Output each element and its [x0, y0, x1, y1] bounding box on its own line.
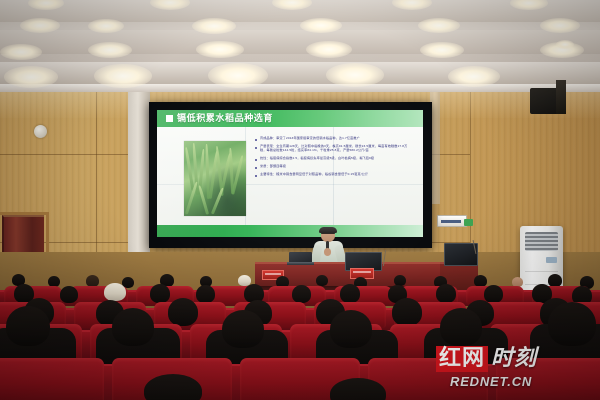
ceiling-light [448, 66, 500, 87]
list-item: 育成品种：审定了2013年国家级审定的低镉水稻品种，达1.7亿亩推广 [255, 136, 413, 141]
slide-title-marker-icon [166, 115, 173, 122]
audience-head [6, 306, 50, 346]
audience-head [168, 298, 198, 326]
audience-head [150, 284, 170, 303]
list-item: 产量表现：全生育期128天，比对照中稻晚熟3天，株高91.5厘米，穗长23.5厘… [255, 144, 413, 153]
presenter-hand [324, 248, 331, 256]
bullet-dot-icon [255, 167, 257, 169]
ceiling-band [0, 62, 600, 84]
watermark-brand-red: 红网 [436, 346, 488, 372]
audience-head-with-cap [104, 283, 126, 301]
ceiling-light [196, 41, 244, 58]
bullet-text: 主要特性：糙米中镉含量明显低于对照品种，稻谷镉含量低于0.15毫克/公斤 [260, 172, 368, 176]
list-item: 主要特性：糙米中镉含量明显低于对照品种，稻谷镉含量低于0.15毫克/公斤 [255, 172, 413, 177]
bullet-text: 育成品种：审定了2013年国家级审定的低镉水稻品种，达1.7亿亩推广 [260, 136, 360, 140]
audience-head [316, 275, 328, 286]
ceiling-light [306, 41, 352, 58]
watermark: 红网 时刻 REDNET.CN [436, 346, 588, 392]
bullet-dot-icon [255, 139, 257, 141]
ceiling-light [420, 42, 464, 58]
audience-head [330, 310, 372, 348]
presenter-laptop[interactable] [289, 252, 312, 265]
bullet-dot-icon [255, 147, 257, 149]
bullet-dot-icon [255, 159, 257, 161]
sign-green-tab [464, 219, 473, 226]
lecture-hall-photo: 镉低积累水稻品种选育 育成品种：审定了2013年国家级审定的低镉水稻品种，达1 [0, 0, 600, 400]
ceiling-light [300, 18, 342, 33]
audience-head [340, 284, 360, 303]
audience-head [144, 374, 202, 400]
rice-paddy-photo [184, 141, 246, 216]
audience-head [222, 310, 264, 348]
ceiling-light [4, 66, 58, 88]
ceiling-light [418, 18, 460, 33]
audience-head [440, 308, 482, 346]
presentation-slide: 镉低积累水稻品种选育 育成品种：审定了2013年国家级审定的低镉水稻品种，达1 [157, 110, 423, 237]
ceiling-light [94, 64, 152, 88]
audience-head [292, 285, 311, 303]
ceiling-light [88, 19, 124, 33]
bullet-dot-icon [255, 175, 257, 177]
audience-head [196, 285, 215, 303]
audience-head [112, 308, 154, 346]
slide-title: 镉低积累水稻品种选育 [177, 112, 273, 125]
ceiling-speaker-icon [556, 80, 566, 114]
sign-text-bar [441, 220, 461, 223]
projection-screen[interactable]: 镉低积累水稻品种选育 育成品种：审定了2013年国家级审定的低镉水稻品种，达1 [157, 110, 423, 237]
bullet-text: 米质：部颁四等级 [260, 164, 286, 168]
audience-head [548, 302, 596, 346]
ceiling [0, 0, 600, 96]
watermark-brand-white: 时刻 [491, 346, 537, 372]
list-item: 抗性：稻瘟病综合指数4.5，稻瘟病损失率最高级5级，白叶枯病5级，褐飞虱9级 [255, 156, 413, 161]
ceiling-light [20, 18, 60, 33]
audience-head [484, 285, 503, 303]
seat [0, 358, 104, 400]
bullet-text: 产量表现：全生育期128天，比对照中稻晚熟3天，株高91.5厘米，穗长23.5厘… [260, 144, 413, 153]
bullet-text: 抗性：稻瘟病综合指数4.5，稻瘟病损失率最高级5级，白叶枯病5级，褐飞虱9级 [260, 156, 374, 160]
list-item: 米质：部颁四等级 [255, 164, 413, 169]
wall-clock-icon [34, 125, 47, 138]
ceiling-light [192, 18, 236, 34]
slide-footer-bar [157, 225, 423, 237]
ceiling-light [0, 44, 42, 60]
audience-head [60, 286, 78, 303]
ceiling-light [540, 18, 580, 33]
audience-head [392, 298, 422, 326]
ceiling-light [326, 63, 384, 87]
laptop-keyboard [287, 262, 314, 265]
presenter-hair [319, 227, 337, 233]
ceiling-light [556, 40, 574, 49]
exit-sign [437, 215, 467, 227]
ceiling-light [208, 63, 268, 88]
ceiling-light [88, 42, 132, 58]
watermark-url: REDNET.CN [450, 374, 532, 389]
slide-bullet-list: 育成品种：审定了2013年国家级审定的低镉水稻品种，达1.7亿亩推广 产量表现：… [255, 136, 413, 180]
ac-vent-grille [525, 232, 558, 251]
watermark-brand-row: 红网 时刻 [436, 346, 537, 372]
ac-control-panel[interactable] [546, 257, 557, 263]
audience-head [436, 284, 456, 303]
